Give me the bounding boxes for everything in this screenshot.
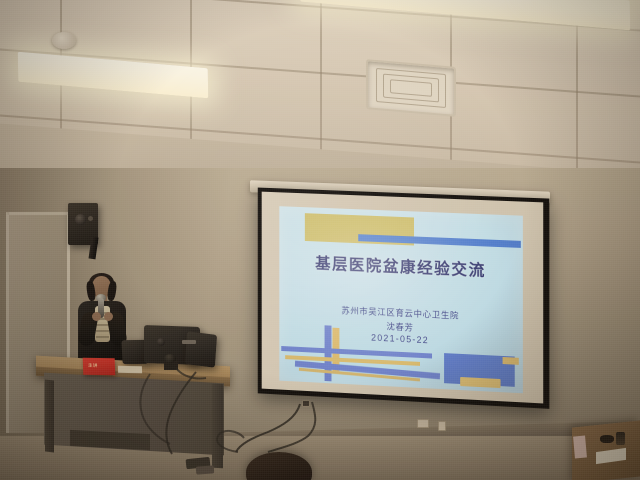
power-adapter-brick-2 <box>196 465 215 474</box>
hvac-diffuser-vent <box>366 59 456 117</box>
presentation-slide: 基层医院盆康经验交流 苏州市吴江区育云中心卫生院 沈春芳 2021-05-22 <box>279 206 523 393</box>
desk-leg-left <box>45 380 54 453</box>
desk-paper <box>118 366 142 373</box>
presenter-hand-left <box>92 312 101 321</box>
side-table-bottle <box>616 432 625 445</box>
screen-surface: 基层医院盆康经验交流 苏州市吴江区育云中心卫生院 沈春芳 2021-05-22 <box>262 192 544 404</box>
desk-leg-right <box>212 384 223 468</box>
monitor-right[interactable] <box>185 331 217 367</box>
side-table-object <box>600 435 614 443</box>
slide-deco-blue-top <box>358 234 521 248</box>
wall-power-outlet[interactable] <box>417 419 429 428</box>
smoke-detector-icon <box>52 32 76 49</box>
speaker-tweeter-icon <box>88 216 93 221</box>
slide-deco-gold-small <box>503 357 519 365</box>
gooseneck-microphone-icon <box>157 338 165 346</box>
shirt-stripe <box>96 336 109 338</box>
presenter-hair-right <box>107 281 118 302</box>
name-placard: 主讲 <box>83 358 116 376</box>
microphone-base-icon <box>164 354 176 363</box>
shirt-stripe <box>96 324 109 326</box>
wall-power-outlet-2[interactable] <box>438 421 446 431</box>
slide-title: 基层医院盆康经验交流 <box>279 250 523 283</box>
monitor-logo-badge <box>182 340 196 344</box>
speaker-driver-icon <box>75 214 86 225</box>
projection-screen[interactable]: 基层医院盆康经验交流 苏州市吴江区育云中心卫生院 沈春芳 2021-05-22 <box>258 188 550 409</box>
placard-label: 主讲 <box>88 363 98 369</box>
shirt-stripe <box>96 330 109 332</box>
slide-deco-gold-pill <box>460 377 500 388</box>
presenter-hand-right <box>104 312 113 321</box>
wall-cable-hook <box>302 400 310 407</box>
photo-scene: 基层医院盆康经验交流 苏州市吴江区育云中心卫生院 沈春芳 2021-05-22 <box>0 0 640 480</box>
side-table-card <box>573 436 587 459</box>
